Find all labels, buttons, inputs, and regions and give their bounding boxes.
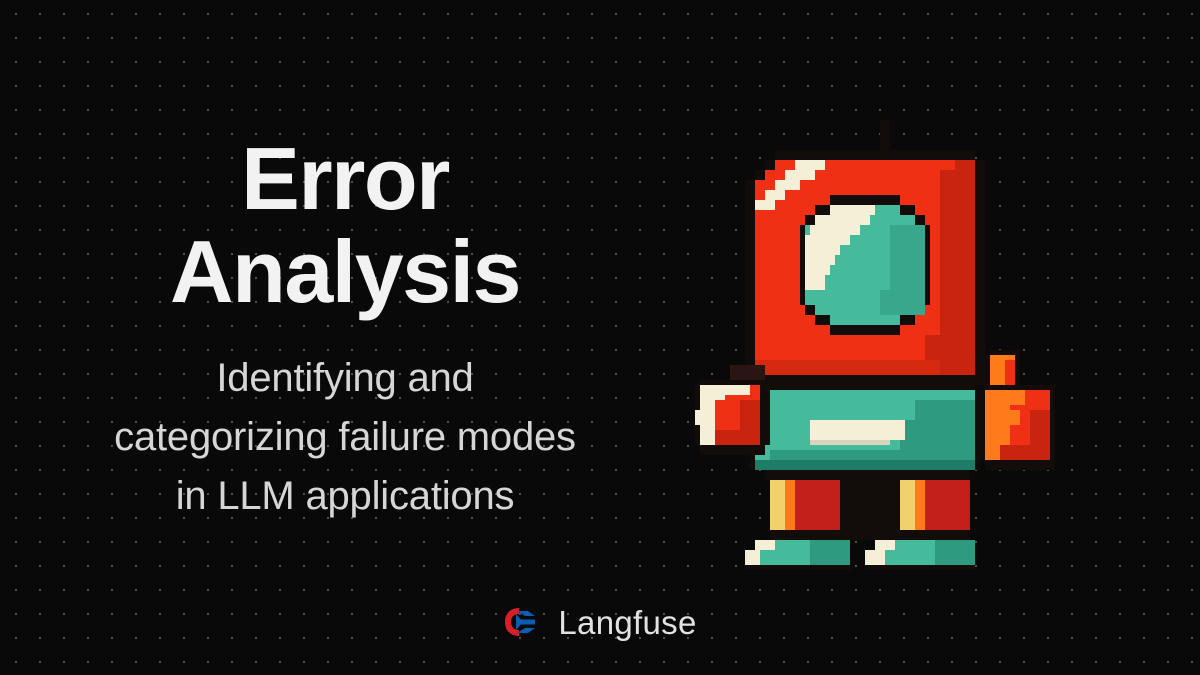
subtitle-line-1: Identifying and — [0, 349, 690, 408]
robot-antenna — [880, 120, 890, 155]
title-line-1: Error — [0, 132, 690, 225]
robot-right-hand — [980, 350, 1055, 470]
title-line-2: Analysis — [0, 225, 690, 318]
robot-legs — [770, 470, 970, 540]
robot-eye — [800, 195, 930, 335]
robot-svg — [690, 110, 1060, 570]
brand-footer: Langfuse — [0, 605, 1200, 639]
subtitle-line-3: in LLM applications — [0, 467, 690, 526]
robot-feet — [745, 540, 975, 570]
page-subtitle: Identifying and categorizing failure mod… — [0, 349, 690, 527]
page-title: Error Analysis — [0, 132, 690, 319]
pixel-art-robot-illustration — [690, 110, 1060, 570]
robot-torso — [750, 385, 980, 480]
langfuse-logo-icon — [503, 605, 541, 639]
og-card: Error Analysis Identifying and categoriz… — [0, 0, 1200, 675]
hero-text-block: Error Analysis Identifying and categoriz… — [0, 132, 690, 526]
robot-left-hand — [695, 365, 770, 455]
brand-name-label: Langfuse — [558, 606, 696, 639]
subtitle-line-2: categorizing failure modes — [0, 408, 690, 467]
